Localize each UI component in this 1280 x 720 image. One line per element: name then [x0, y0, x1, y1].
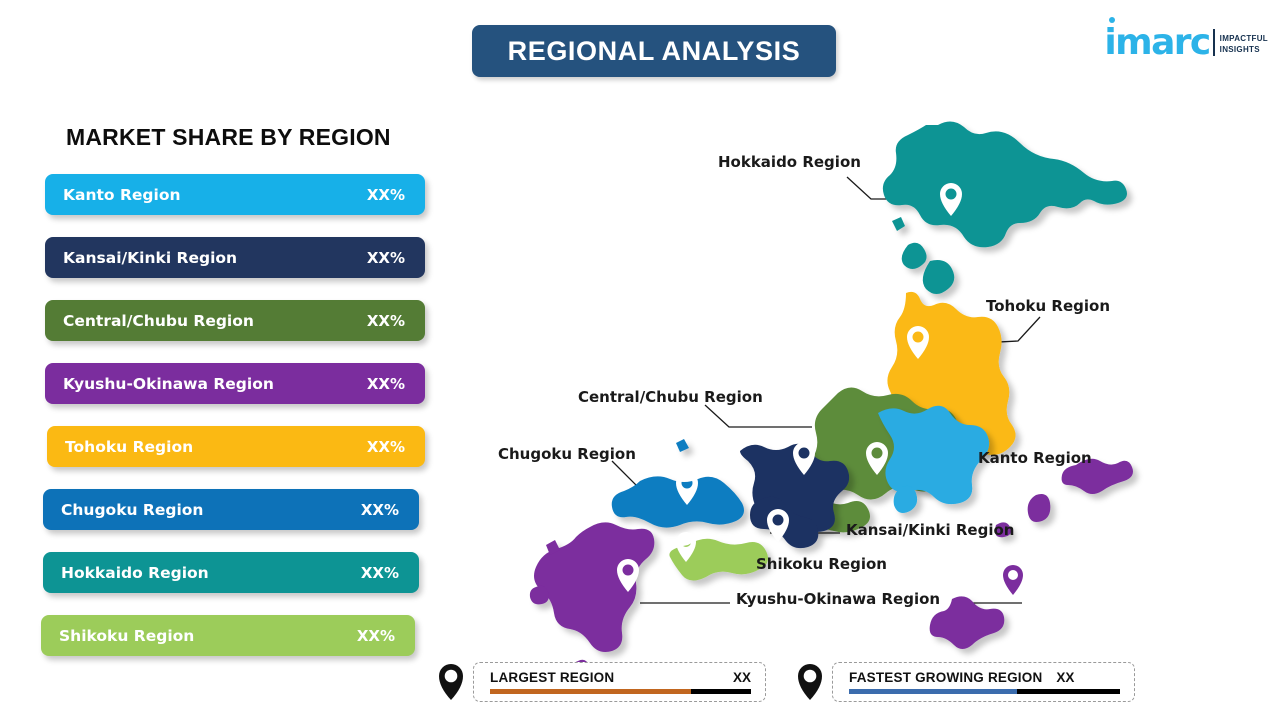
map-label-hokkaido: Hokkaido Region: [718, 153, 861, 171]
map-label-tohoku: Tohoku Region: [986, 297, 1110, 315]
fastest-growing-region-value: XX: [1056, 670, 1074, 685]
largest-region-value: XX: [733, 670, 751, 685]
page-title: REGIONAL ANALYSIS: [508, 36, 801, 67]
map-label-central-chubu: Central/Chubu Region: [578, 388, 763, 406]
map-pin-okinawa-icon: [1003, 565, 1023, 595]
map-label-kyushu-okinawa: Kyushu-Okinawa Region: [736, 590, 940, 608]
list-item-label: Chugoku Region: [61, 501, 361, 519]
map-pin-icon: [795, 663, 825, 701]
fastest-growing-region-callout[interactable]: FASTEST GROWING REGION XX: [795, 661, 1135, 703]
list-item[interactable]: Kyushu-Okinawa Region XX%: [45, 363, 425, 404]
map-pin-icon: [436, 663, 466, 701]
list-item-label: Kansai/Kinki Region: [63, 249, 367, 267]
list-item-value: XX%: [361, 501, 399, 519]
market-share-legend-list: Kanto Region XX% Kansai/Kinki Region XX%…: [45, 174, 435, 678]
list-item[interactable]: Kansai/Kinki Region XX%: [45, 237, 425, 278]
list-item-label: Kanto Region: [63, 186, 367, 204]
list-item-value: XX%: [361, 564, 399, 582]
page-title-banner: REGIONAL ANALYSIS: [472, 25, 836, 77]
logo-divider: [1213, 29, 1215, 56]
list-item-label: Kyushu-Okinawa Region: [63, 375, 367, 393]
fastest-growing-region-progress-track: [849, 689, 1120, 694]
map-label-kansai-kinki: Kansai/Kinki Region: [846, 521, 1014, 539]
largest-region-box: LARGEST REGION XX: [473, 662, 766, 702]
logo-wordmark: imarc: [1104, 22, 1209, 63]
list-item[interactable]: Tohoku Region XX%: [47, 426, 425, 467]
list-item-label: Shikoku Region: [59, 627, 357, 645]
map-label-kanto: Kanto Region: [978, 449, 1092, 467]
list-item[interactable]: Chugoku Region XX%: [43, 489, 419, 530]
map-label-chugoku: Chugoku Region: [498, 445, 636, 463]
imarc-logo: imarc IMPACTFUL INSIGHTS: [1104, 14, 1268, 60]
logo-tagline-line2: INSIGHTS: [1220, 44, 1268, 55]
largest-region-label: LARGEST REGION: [490, 670, 614, 685]
fastest-growing-region-box: FASTEST GROWING REGION XX: [832, 662, 1135, 702]
list-item-value: XX%: [357, 627, 395, 645]
map-label-shikoku: Shikoku Region: [756, 555, 887, 573]
list-item-value: XX%: [367, 375, 405, 393]
fastest-growing-region-progress-fill: [849, 689, 1017, 694]
list-item-label: Central/Chubu Region: [63, 312, 367, 330]
list-item[interactable]: Hokkaido Region XX%: [43, 552, 419, 593]
japan-map-svg: [440, 95, 1160, 665]
list-item[interactable]: Shikoku Region XX%: [41, 615, 415, 656]
list-item-value: XX%: [367, 249, 405, 267]
fastest-growing-region-label: FASTEST GROWING REGION: [849, 670, 1042, 685]
list-item-value: XX%: [367, 312, 405, 330]
list-item-value: XX%: [367, 438, 405, 456]
slide-regional-analysis: REGIONAL ANALYSIS imarc IMPACTFUL INSIGH…: [0, 0, 1280, 720]
panel-title: MARKET SHARE BY REGION: [66, 124, 391, 151]
list-item-label: Hokkaido Region: [61, 564, 361, 582]
list-item[interactable]: Central/Chubu Region XX%: [45, 300, 425, 341]
list-item[interactable]: Kanto Region XX%: [45, 174, 425, 215]
logo-tagline-line1: IMPACTFUL: [1220, 33, 1268, 44]
largest-region-progress-fill: [490, 689, 691, 694]
list-item-label: Tohoku Region: [65, 438, 367, 456]
japan-region-map: Hokkaido Region Tohoku Region Central/Ch…: [440, 95, 1160, 665]
map-region-hokkaido[interactable]: [883, 121, 1127, 294]
list-item-value: XX%: [367, 186, 405, 204]
largest-region-callout[interactable]: LARGEST REGION XX: [436, 661, 766, 703]
largest-region-progress-track: [490, 689, 751, 694]
